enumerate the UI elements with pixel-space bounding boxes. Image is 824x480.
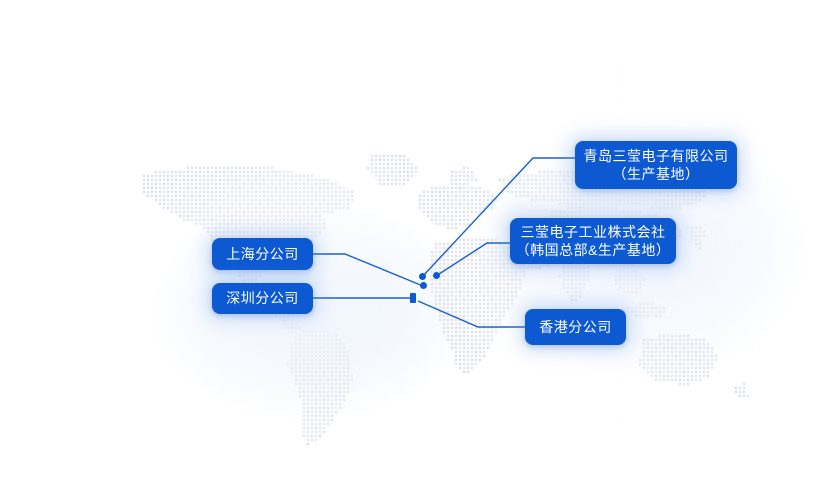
label-shanghai-text: 上海分公司: [226, 245, 299, 263]
map-node-shenzhen[interactable]: [410, 293, 416, 303]
label-qingdao[interactable]: 青岛三莹电子有限公司 （生产基地）: [575, 141, 737, 189]
label-hongkong-text: 香港分公司: [539, 318, 612, 336]
label-shanghai[interactable]: 上海分公司: [212, 238, 313, 270]
label-korea-line2: （韩国总部&生产基地）: [516, 241, 671, 259]
connector-shanghai: [313, 254, 423, 286]
label-shenzhen-text: 深圳分公司: [226, 289, 299, 307]
connector-korea: [436, 243, 510, 276]
label-korea-line1: 三莹电子工业株式会社: [521, 223, 666, 241]
connector-hongkong: [418, 301, 525, 327]
map-node-shanghai[interactable]: [420, 282, 427, 289]
label-korea-hq[interactable]: 三莹电子工业株式会社 （韩国总部&生产基地）: [510, 218, 676, 264]
world-map-canvas: 青岛三莹电子有限公司 （生产基地） 三莹电子工业株式会社 （韩国总部&生产基地）…: [0, 0, 824, 480]
label-qingdao-line2: （生产基地）: [613, 165, 700, 183]
label-qingdao-line1: 青岛三莹电子有限公司: [584, 147, 729, 165]
connector-lines: [0, 0, 824, 480]
label-hongkong[interactable]: 香港分公司: [525, 309, 626, 345]
label-shenzhen[interactable]: 深圳分公司: [212, 283, 313, 314]
map-node-qingdao[interactable]: [419, 273, 426, 280]
map-node-korea[interactable]: [433, 272, 440, 279]
